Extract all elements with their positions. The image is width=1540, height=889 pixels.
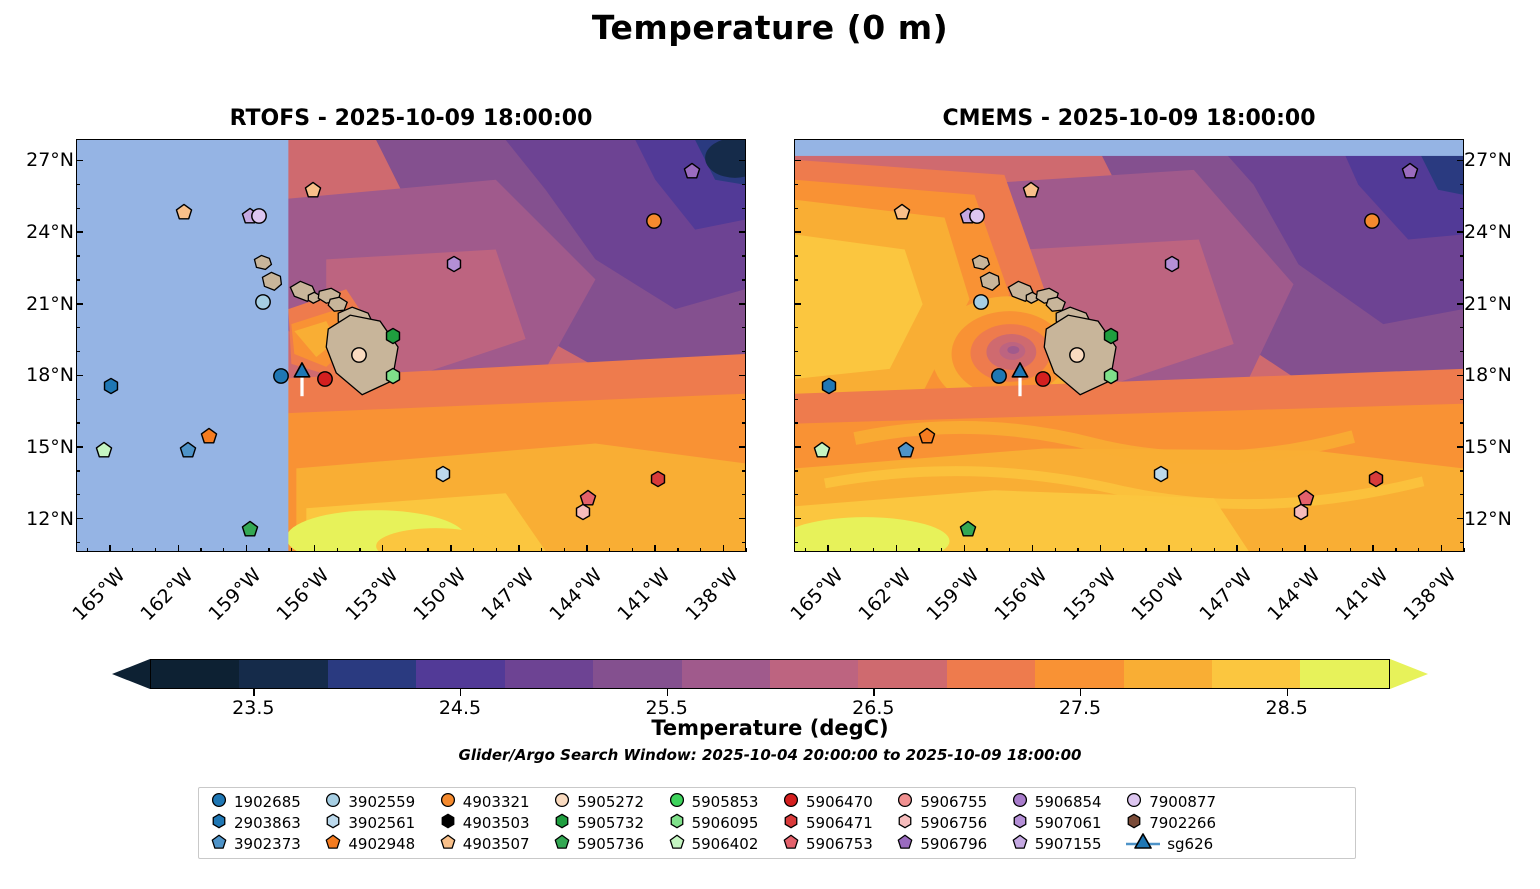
float-marker-5906756[interactable] — [574, 503, 592, 521]
ytick-mark — [739, 375, 746, 377]
search-window-caption: Glider/Argo Search Window: 2025-10-04 20… — [0, 746, 1540, 764]
legend-label: 5905732 — [577, 814, 644, 832]
hexagon-icon — [325, 813, 341, 833]
pentagon-icon — [669, 834, 685, 854]
legend-label: 5907155 — [1035, 835, 1102, 853]
xtick-minor — [609, 548, 610, 552]
ytick-minor — [742, 399, 746, 400]
xtick-minor — [941, 548, 942, 552]
float-marker-5906796[interactable] — [1401, 162, 1419, 180]
hexagon-icon — [554, 813, 570, 833]
ytick-minor — [1460, 470, 1464, 471]
float-marker-4903321[interactable] — [645, 212, 663, 230]
ytick-minor — [794, 422, 798, 423]
xtick-minor — [541, 548, 542, 552]
xtick-mark — [1168, 545, 1170, 552]
ytick-minor — [794, 542, 798, 543]
float-marker-4903507[interactable] — [175, 203, 193, 221]
float-marker-4903507b[interactable] — [304, 181, 322, 199]
legend-label: 7900877 — [1149, 793, 1216, 811]
float-marker-1902685[interactable] — [272, 367, 290, 385]
circle-icon — [325, 792, 341, 812]
float-marker-5906402[interactable] — [813, 441, 831, 459]
legend-label: 4903321 — [463, 793, 530, 811]
xtick-minor — [745, 548, 746, 552]
colorbar-band-12 — [1212, 660, 1300, 688]
map-panel-rtofs[interactable] — [76, 139, 746, 552]
ytick-minor — [76, 208, 80, 209]
colorbar-band-6 — [682, 660, 770, 688]
hexagon-icon — [783, 813, 799, 833]
ytick-mark — [1457, 231, 1464, 233]
ytick-mark — [76, 231, 83, 233]
legend-label: 2903863 — [234, 814, 301, 832]
ytick-mark — [739, 446, 746, 448]
xtick-minor — [1282, 548, 1283, 552]
ytick-minor — [742, 279, 746, 280]
ytick-mark — [739, 231, 746, 233]
pentagon-icon — [554, 834, 570, 854]
ytick-label-right: 21°N — [1456, 293, 1540, 315]
ytick-mark — [794, 160, 801, 162]
xtick-mark — [246, 545, 248, 552]
ytick-minor — [742, 351, 746, 352]
legend-item-2903863[interactable]: 2903863 — [205, 813, 319, 833]
legend-item-4902948[interactable]: 4902948 — [319, 834, 433, 854]
ytick-mark — [794, 231, 801, 233]
colorbar-band-2 — [328, 660, 416, 688]
legend: 1902685290386339023733902559390256149029… — [198, 787, 1356, 859]
legend-label: 3902373 — [234, 835, 301, 853]
ytick-mark — [739, 303, 746, 305]
ytick-minor — [1460, 494, 1464, 495]
xtick-minor — [1350, 548, 1351, 552]
xtick-minor — [496, 548, 497, 552]
xtick-mark — [518, 545, 520, 552]
ytick-minor — [1460, 399, 1464, 400]
hexagon-icon — [669, 813, 685, 833]
colorbar-tick — [873, 689, 874, 696]
ytick-minor — [794, 494, 798, 495]
ytick-minor — [1460, 422, 1464, 423]
ytick-minor — [76, 184, 80, 185]
colorbar-band-3 — [416, 660, 504, 688]
legend-item-5906095[interactable]: 5906095 — [663, 813, 777, 833]
float-marker-5907061[interactable] — [445, 255, 463, 273]
ytick-minor — [76, 351, 80, 352]
circle-icon — [1012, 792, 1028, 812]
xtick-mark — [1100, 545, 1102, 552]
legend-item-sg626[interactable]: sg626 — [1120, 833, 1234, 854]
ytick-minor — [76, 494, 80, 495]
circle-icon — [211, 792, 227, 812]
float-marker-3902559[interactable] — [254, 293, 272, 311]
xtick-minor — [632, 548, 633, 552]
legend-label: 5905736 — [577, 835, 644, 853]
xtick-mark — [1441, 545, 1443, 552]
xtick-minor — [1395, 548, 1396, 552]
ytick-minor — [742, 255, 746, 256]
legend-item-5905272[interactable]: 5905272 — [548, 792, 662, 812]
legend-item-5907155[interactable]: 5907155 — [1006, 834, 1120, 854]
legend-item-5906796[interactable]: 5906796 — [891, 834, 1005, 854]
ytick-minor — [742, 208, 746, 209]
legend-item-4903321[interactable]: 4903321 — [434, 792, 548, 812]
ytick-label-right: 24°N — [1456, 221, 1540, 243]
float-marker-5906470[interactable] — [1034, 370, 1052, 388]
xtick-minor — [873, 548, 874, 552]
legend-item-5906854[interactable]: 5906854 — [1006, 792, 1120, 812]
ytick-minor — [742, 422, 746, 423]
ytick-minor — [1460, 184, 1464, 185]
panel-title-rtofs: RTOFS - 2025-10-09 18:00:00 — [76, 106, 746, 131]
xtick-minor — [850, 548, 851, 552]
ytick-mark — [1457, 303, 1464, 305]
ytick-mark — [794, 446, 801, 448]
float-marker-4903507b[interactable] — [1022, 181, 1040, 199]
xtick-mark — [723, 545, 725, 552]
legend-item-5905736[interactable]: 5905736 — [548, 834, 662, 854]
pentagon-icon — [440, 834, 456, 854]
xtick-mark — [178, 545, 180, 552]
colorbar-tick — [1080, 689, 1081, 696]
hexagon-icon — [211, 813, 227, 833]
legend-item-5905732[interactable]: 5905732 — [548, 813, 662, 833]
ytick-mark — [1457, 160, 1464, 162]
float-marker-sg626[interactable] — [293, 360, 311, 378]
xtick-mark — [1304, 545, 1306, 552]
ytick-minor — [794, 399, 798, 400]
xtick-minor — [1418, 548, 1419, 552]
xtick-minor — [1259, 548, 1260, 552]
colorbar-band-4 — [505, 660, 593, 688]
legend-label: 1902685 — [234, 793, 301, 811]
xtick-minor — [200, 548, 201, 552]
float-marker-5906756[interactable] — [1292, 503, 1310, 521]
xtick-mark — [314, 545, 316, 552]
legend-item-5906402[interactable]: 5906402 — [663, 834, 777, 854]
float-marker-3902373[interactable] — [179, 441, 197, 459]
colorbar-band-8 — [858, 660, 946, 688]
ytick-mark — [794, 375, 801, 377]
legend-item-3902559[interactable]: 3902559 — [319, 792, 433, 812]
ytick-minor — [794, 184, 798, 185]
float-marker-3902559[interactable] — [972, 293, 990, 311]
ytick-label-left: 12°N — [0, 508, 82, 530]
legend-item-1902685[interactable]: 1902685 — [205, 792, 319, 812]
legend-label: 5906796 — [920, 835, 987, 853]
pentagon-icon — [897, 834, 913, 854]
legend-item-4903507[interactable]: 4903507 — [434, 834, 548, 854]
legend-label: 5906854 — [1035, 793, 1102, 811]
float-marker-4902948[interactable] — [918, 427, 936, 445]
legend-item-7902266[interactable]: 7902266 — [1120, 813, 1234, 833]
ytick-label-left: 21°N — [0, 293, 82, 315]
ytick-minor — [742, 494, 746, 495]
glider-icon — [1126, 833, 1160, 854]
float-marker-3902373[interactable] — [897, 441, 915, 459]
legend-label: 5907061 — [1035, 814, 1102, 832]
xtick-minor — [677, 548, 678, 552]
float-marker-5905736[interactable] — [241, 520, 259, 538]
pentagon-icon — [1012, 834, 1028, 854]
colorbar-tick — [253, 689, 254, 696]
ytick-minor — [794, 279, 798, 280]
float-marker-3902561[interactable] — [1152, 465, 1170, 483]
legend-label: 4903507 — [463, 835, 530, 853]
float-marker-5905732[interactable] — [1102, 327, 1120, 345]
xtick-minor — [291, 548, 292, 552]
legend-item-3902373[interactable]: 3902373 — [205, 834, 319, 854]
float-marker-2903863[interactable] — [102, 377, 120, 395]
xtick-minor — [805, 548, 806, 552]
pentagon-icon — [211, 834, 227, 854]
ytick-label-right: 27°N — [1456, 149, 1540, 171]
xtick-mark — [382, 545, 384, 552]
float-marker-3902561[interactable] — [434, 465, 452, 483]
legend-label: 5906471 — [806, 814, 873, 832]
legend-label: 4903503 — [463, 814, 530, 832]
ytick-minor — [76, 255, 80, 256]
ytick-minor — [1460, 208, 1464, 209]
ytick-mark — [794, 518, 801, 520]
colorbar-extend-low-arrow — [112, 659, 150, 689]
colorbar-band-1 — [239, 660, 327, 688]
ytick-mark — [76, 446, 83, 448]
ytick-minor — [742, 184, 746, 185]
legend-label: 5906756 — [920, 814, 987, 832]
xtick-minor — [1123, 548, 1124, 552]
float-marker-5907061[interactable] — [1163, 255, 1181, 273]
ytick-minor — [794, 351, 798, 352]
xtick-minor — [1077, 548, 1078, 552]
xtick-minor — [1214, 548, 1215, 552]
colorbar-band-11 — [1124, 660, 1212, 688]
legend-label: 7902266 — [1149, 814, 1216, 832]
xtick-minor — [1327, 548, 1328, 552]
ytick-label-left: 27°N — [0, 149, 82, 171]
ytick-mark — [794, 303, 801, 305]
ytick-minor — [1460, 351, 1464, 352]
ytick-minor — [76, 279, 80, 280]
float-marker-2903863[interactable] — [820, 377, 838, 395]
hexagon-icon — [440, 813, 456, 833]
legend-label: 3902559 — [348, 793, 415, 811]
colorbar-band-13 — [1300, 660, 1388, 688]
xtick-minor — [1009, 548, 1010, 552]
xtick-minor — [1145, 548, 1146, 552]
xtick-minor — [405, 548, 406, 552]
xtick-minor — [918, 548, 919, 552]
xtick-minor — [337, 548, 338, 552]
legend-item-5906756[interactable]: 5906756 — [891, 813, 1005, 833]
colorbar-extend-high-arrow — [1390, 659, 1428, 689]
ytick-mark — [1457, 518, 1464, 520]
ytick-minor — [794, 470, 798, 471]
float-marker-5906095[interactable] — [384, 367, 402, 385]
float-marker-5906471[interactable] — [1367, 470, 1385, 488]
legend-item-5906470[interactable]: 5906470 — [777, 792, 891, 812]
float-marker-5905732[interactable] — [384, 327, 402, 345]
float-marker-5905736[interactable] — [959, 520, 977, 538]
ytick-mark — [76, 375, 83, 377]
ytick-label-right: 12°N — [1456, 508, 1540, 530]
ytick-minor — [76, 470, 80, 471]
xtick-mark — [827, 545, 829, 552]
ytick-minor — [1460, 327, 1464, 328]
xtick-mark — [964, 545, 966, 552]
ytick-mark — [1457, 446, 1464, 448]
hexagon-icon — [1012, 813, 1028, 833]
circle-icon — [440, 792, 456, 812]
xtick-mark — [1032, 545, 1034, 552]
legend-item-7900877[interactable]: 7900877 — [1120, 792, 1234, 812]
xtick-minor — [1191, 548, 1192, 552]
xtick-mark — [654, 545, 656, 552]
ytick-mark — [1457, 375, 1464, 377]
xtick-minor — [1055, 548, 1056, 552]
xtick-mark — [896, 545, 898, 552]
panel-title-cmems: CMEMS - 2025-10-09 18:00:00 — [794, 106, 1464, 131]
circle-icon — [554, 792, 570, 812]
float-marker-4903507[interactable] — [893, 203, 911, 221]
legend-label: 3902561 — [348, 814, 415, 832]
xtick-minor — [359, 548, 360, 552]
ytick-mark — [76, 303, 83, 305]
legend-item-3902561[interactable]: 3902561 — [319, 813, 433, 833]
colorbar-tick — [1287, 689, 1288, 696]
colorbar-title: Temperature (degC) — [0, 716, 1540, 740]
xtick-minor — [132, 548, 133, 552]
legend-label: 5906470 — [806, 793, 873, 811]
ytick-label-left: 24°N — [0, 221, 82, 243]
colorbar-band-7 — [770, 660, 858, 688]
float-marker-5906470[interactable] — [316, 370, 334, 388]
colorbar-tick — [667, 689, 668, 696]
ytick-mark — [76, 160, 83, 162]
ytick-mark — [76, 518, 83, 520]
xtick-minor — [564, 548, 565, 552]
ytick-minor — [1460, 255, 1464, 256]
xtick-minor — [268, 548, 269, 552]
colorbar-band-10 — [1035, 660, 1123, 688]
hexagon-icon — [897, 813, 913, 833]
float-marker-7900877[interactable] — [250, 207, 268, 225]
legend-item-4903503[interactable]: 4903503 — [434, 813, 548, 833]
xtick-minor — [986, 548, 987, 552]
ytick-label-left: 15°N — [0, 436, 82, 458]
map-panel-cmems[interactable] — [794, 139, 1464, 552]
legend-label: 4902948 — [348, 835, 415, 853]
ytick-label-right: 15°N — [1456, 436, 1540, 458]
legend-label: 5906402 — [692, 835, 759, 853]
xtick-mark — [450, 545, 452, 552]
ytick-label-right: 18°N — [1456, 364, 1540, 386]
pentagon-icon — [783, 834, 799, 854]
float-marker-1902685[interactable] — [990, 367, 1008, 385]
legend-label: sg626 — [1167, 835, 1213, 853]
colorbar-band-0 — [151, 660, 239, 688]
ytick-minor — [794, 327, 798, 328]
xtick-mark — [1236, 545, 1238, 552]
xtick-minor — [427, 548, 428, 552]
legend-label: 5905272 — [577, 793, 644, 811]
colorbar-band-5 — [593, 660, 681, 688]
ytick-minor — [1460, 542, 1464, 543]
xtick-minor — [473, 548, 474, 552]
xtick-minor — [87, 548, 88, 552]
xtick-mark — [1372, 545, 1374, 552]
circle-icon — [1126, 792, 1142, 812]
hexagon-icon — [1126, 813, 1142, 833]
float-marker-5906095[interactable] — [1102, 367, 1120, 385]
legend-label: 5906753 — [806, 835, 873, 853]
legend-label: 5906095 — [692, 814, 759, 832]
ytick-minor — [794, 255, 798, 256]
legend-item-5907061[interactable]: 5907061 — [1006, 813, 1120, 833]
legend-item-5905853[interactable]: 5905853 — [663, 792, 777, 812]
legend-item-5906755[interactable]: 5906755 — [891, 792, 1005, 812]
ytick-minor — [794, 208, 798, 209]
legend-label: 5905853 — [692, 793, 759, 811]
float-marker-5906471[interactable] — [649, 470, 667, 488]
ytick-minor — [742, 470, 746, 471]
pentagon-icon — [325, 834, 341, 854]
colorbar-tick — [460, 689, 461, 696]
circle-icon — [897, 792, 913, 812]
ytick-label-left: 18°N — [0, 364, 82, 386]
float-marker-5905272[interactable] — [350, 346, 368, 364]
float-marker-5905272[interactable] — [1068, 346, 1086, 364]
float-marker-5906796[interactable] — [683, 162, 701, 180]
float-marker-sg626[interactable] — [1011, 360, 1029, 378]
ytick-minor — [742, 542, 746, 543]
legend-item-5906471[interactable]: 5906471 — [777, 813, 891, 833]
figure-title: Temperature (0 m) — [0, 8, 1540, 47]
xtick-mark — [109, 545, 111, 552]
ytick-minor — [742, 327, 746, 328]
ytick-mark — [739, 160, 746, 162]
ytick-minor — [76, 399, 80, 400]
colorbar-band-9 — [947, 660, 1035, 688]
xtick-minor — [1463, 548, 1464, 552]
ytick-minor — [1460, 279, 1464, 280]
colorbar: 23.524.525.526.527.528.5 — [112, 659, 1428, 689]
circle-icon — [669, 792, 685, 812]
float-marker-4903321[interactable] — [1363, 212, 1381, 230]
xtick-minor — [155, 548, 156, 552]
ytick-minor — [76, 542, 80, 543]
xtick-minor — [700, 548, 701, 552]
ytick-minor — [76, 422, 80, 423]
ytick-mark — [739, 518, 746, 520]
circle-icon — [783, 792, 799, 812]
float-marker-4902948[interactable] — [200, 427, 218, 445]
xtick-minor — [223, 548, 224, 552]
legend-label: 5906755 — [920, 793, 987, 811]
ytick-minor — [76, 327, 80, 328]
float-marker-7900877[interactable] — [968, 207, 986, 225]
legend-item-5906753[interactable]: 5906753 — [777, 834, 891, 854]
float-marker-5906402[interactable] — [95, 441, 113, 459]
colorbar-gradient — [150, 659, 1390, 689]
xtick-mark — [586, 545, 588, 552]
